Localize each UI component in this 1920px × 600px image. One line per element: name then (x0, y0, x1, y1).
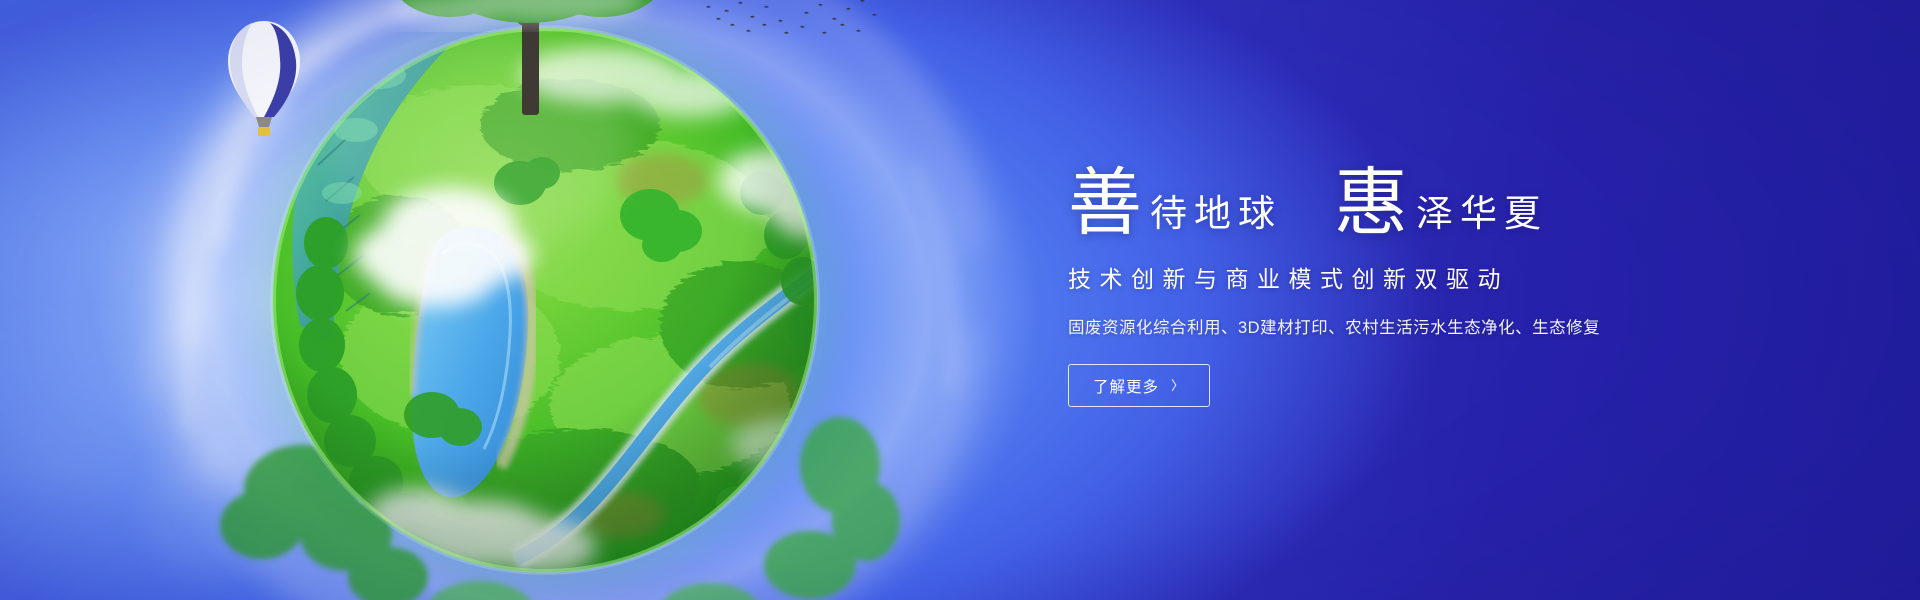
chevron-right-icon: 〉 (1171, 379, 1185, 392)
headline: 善 待地球 惠 泽华夏 (1068, 150, 1788, 236)
learn-more-button[interactable]: 了解更多 〉 (1068, 364, 1210, 407)
headline-part-2: 泽华夏 (1408, 196, 1548, 236)
hero-banner: 善 待地球 惠 泽华夏 技术创新与商业模式创新双驱动 固废资源化综合利用、3D建… (0, 0, 1920, 600)
learn-more-label: 了解更多 (1093, 375, 1159, 397)
headline-char-2: 惠 (1334, 169, 1408, 240)
headline-char-1: 善 (1068, 169, 1142, 240)
banner-content: 善 待地球 惠 泽华夏 技术创新与商业模式创新双驱动 固废资源化综合利用、3D建… (1068, 150, 1788, 407)
headline-subtitle: 技术创新与商业模式创新双驱动 (1068, 260, 1788, 294)
banner-description: 固废资源化综合利用、3D建材打印、农村生活污水生态净化、生态修复 (1068, 314, 1788, 338)
headline-part-1: 待地球 (1142, 196, 1282, 236)
